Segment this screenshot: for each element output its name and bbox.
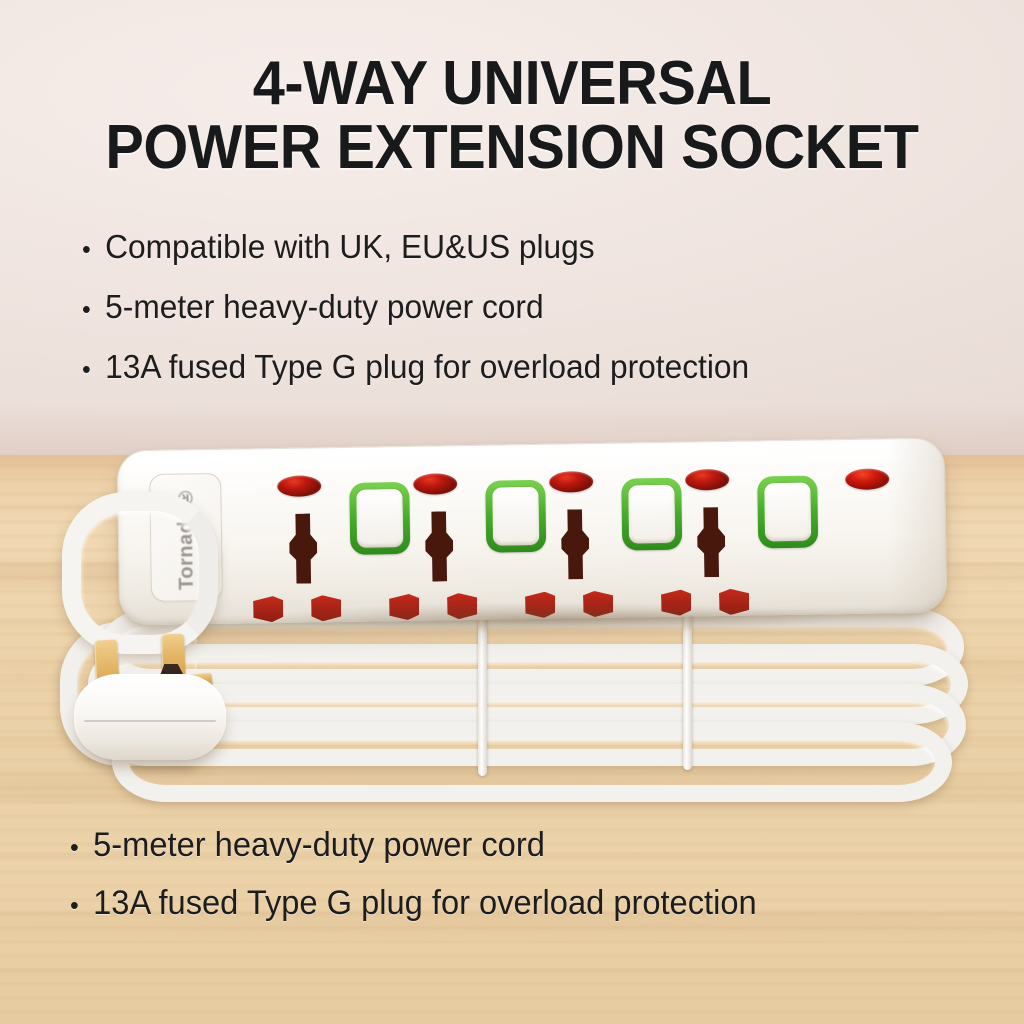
power-indicator-5 bbox=[845, 468, 889, 490]
uk-type-g-plug bbox=[66, 612, 242, 762]
list-item-label: 5-meter heavy-duty power cord bbox=[93, 818, 545, 873]
list-item-label: 5-meter heavy-duty power cord bbox=[105, 278, 543, 336]
bullet-icon: • bbox=[70, 818, 79, 876]
list-item-label: Compatible with UK, EU&US plugs bbox=[105, 218, 594, 276]
list-item: • 5-meter heavy-duty power cord bbox=[70, 818, 972, 876]
power-extension-strip: Tornado® bbox=[117, 438, 948, 626]
headline-line-2: POWER EXTENSION SOCKET bbox=[36, 116, 988, 180]
product-infographic: 4-WAY UNIVERSAL POWER EXTENSION SOCKET •… bbox=[0, 0, 1024, 1024]
universal-socket-4[interactable] bbox=[676, 507, 748, 616]
bullet-icon: • bbox=[70, 876, 79, 934]
socket-earth-slot-icon bbox=[425, 511, 454, 581]
bullet-icon: • bbox=[82, 280, 91, 338]
page-title: 4-WAY UNIVERSAL POWER EXTENSION SOCKET bbox=[36, 52, 988, 180]
socket-earth-slot-icon bbox=[289, 513, 318, 583]
power-indicator-2 bbox=[413, 473, 457, 495]
list-item-label: 13A fused Type G plug for overload prote… bbox=[105, 338, 749, 396]
power-indicator-4 bbox=[685, 469, 729, 491]
power-indicator-3 bbox=[549, 471, 593, 493]
list-item: • 13A fused Type G plug for overload pro… bbox=[82, 338, 965, 398]
list-item: • 5-meter heavy-duty power cord bbox=[82, 278, 965, 338]
bullet-icon: • bbox=[82, 220, 91, 278]
strip-right-shading bbox=[887, 438, 948, 614]
headline-line-1: 4-WAY UNIVERSAL bbox=[253, 49, 772, 118]
bullet-icon: • bbox=[82, 340, 91, 398]
feature-list-bottom: • 5-meter heavy-duty power cord • 13A fu… bbox=[70, 818, 1010, 934]
list-item: • 13A fused Type G plug for overload pro… bbox=[70, 876, 972, 934]
socket-earth-slot-icon bbox=[561, 509, 590, 579]
feature-list-top: • Compatible with UK, EU&US plugs • 5-me… bbox=[82, 218, 1002, 398]
product-drop-shadow bbox=[150, 600, 950, 636]
socket-earth-slot-icon bbox=[697, 507, 726, 577]
socket-unit-4 bbox=[661, 439, 824, 616]
plug-housing bbox=[74, 674, 226, 760]
list-item: • Compatible with UK, EU&US plugs bbox=[82, 218, 965, 278]
list-item-label: 13A fused Type G plug for overload prote… bbox=[93, 876, 757, 931]
power-indicator-1 bbox=[277, 475, 321, 497]
rocker-switch-4[interactable] bbox=[757, 476, 818, 549]
